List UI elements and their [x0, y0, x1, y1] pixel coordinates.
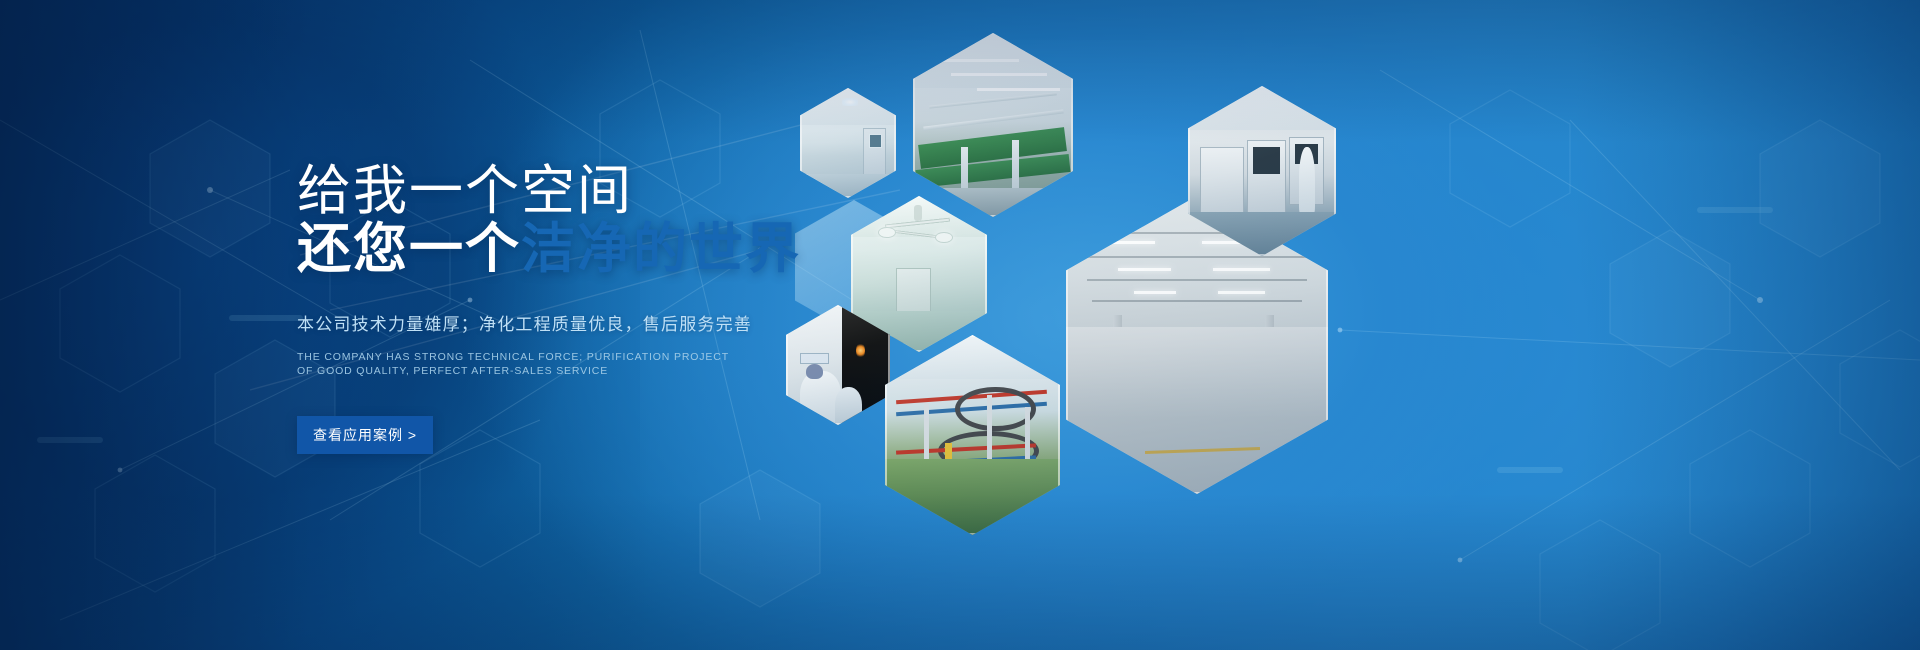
headline-line-2-white: 还您一个	[297, 219, 521, 279]
subtitle-english-line-1: THE COMPANY HAS STRONG TECHNICAL FORCE; …	[297, 350, 937, 364]
hero-copy: 给我一个空间 还您一个洁净的世界 本公司技术力量雄厚；净化工程质量优良，售后服务…	[297, 160, 937, 454]
headline-line-2-blue: 洁净的世界	[521, 219, 801, 279]
subtitle-chinese: 本公司技术力量雄厚；净化工程质量优良，售后服务完善	[297, 313, 937, 337]
headline-line-1: 给我一个空间	[297, 160, 937, 222]
hero-banner: 给我一个空间 还您一个洁净的世界 本公司技术力量雄厚；净化工程质量优良，售后服务…	[0, 0, 1920, 650]
view-cases-button[interactable]: 查看应用案例 >	[297, 416, 433, 454]
subtitle-english-line-2: OF GOOD QUALITY, PERFECT AFTER-SALES SER…	[297, 364, 937, 378]
hex-large-cleanroom-hall[interactable]	[1066, 196, 1328, 494]
headline-line-2: 还您一个洁净的世界	[297, 218, 937, 280]
subtitle-english: THE COMPANY HAS STRONG TECHNICAL FORCE; …	[297, 350, 937, 378]
hex-assembly-line[interactable]	[913, 33, 1073, 217]
hexagon-photo-cluster	[0, 0, 1920, 650]
